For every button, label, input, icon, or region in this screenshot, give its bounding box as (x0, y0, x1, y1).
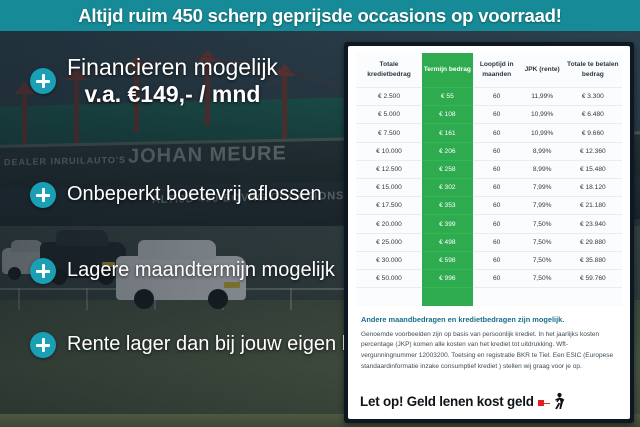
table-cell-1: € 161 (422, 124, 473, 142)
table-cell-4: € 29.880 (564, 233, 622, 251)
plus-icon (30, 258, 56, 284)
table-cell-1: € 399 (422, 215, 473, 233)
table-cell-3: 7,50% (521, 251, 564, 269)
rates-table-head: Totale kredietbedrag Termijn bedrag Loop… (356, 53, 622, 88)
table-row: € 2.500€ 556011,99%€ 3.300 (356, 88, 622, 106)
plus-icon (30, 68, 56, 94)
table-cell-4: € 15.480 (564, 160, 622, 178)
table-row: € 7.500€ 1616010,99%€ 9.660 (356, 124, 622, 142)
table-cell-3: 11,99% (521, 88, 564, 106)
table-cell-2: 60 (473, 106, 521, 124)
plus-icon (30, 182, 56, 208)
table-row-spacer (356, 288, 622, 307)
table-header-row: Totale kredietbedrag Termijn bedrag Loop… (356, 53, 622, 88)
table-cell-0: € 50.000 (356, 269, 422, 287)
table-cell-3: 8,99% (521, 160, 564, 178)
debt-walking-man-icon (538, 392, 562, 410)
table-cell-3: 8,99% (521, 142, 564, 160)
table-cell-2: 60 (473, 269, 521, 287)
table-cell-2: 60 (473, 124, 521, 142)
table-cell-spacer (422, 288, 473, 307)
feature-text: Rente lager dan bij jouw eigen bank (67, 333, 385, 357)
feature-list: Financieren mogelijk v.a. €149,- / mnd O… (0, 42, 348, 414)
footer-body: Genoemde voorbeelden zijn op basis van p… (361, 330, 617, 372)
table-cell-1: € 302 (422, 179, 473, 197)
table-row: € 5.000€ 1086010,99%€ 6.480 (356, 106, 622, 124)
table-cell-1: € 108 (422, 106, 473, 124)
credit-warning-text: Let op! Geld lenen kost geld (360, 394, 534, 409)
table-cell-2: 60 (473, 197, 521, 215)
table-cell-4: € 9.660 (564, 124, 622, 142)
table-cell-0: € 10.000 (356, 142, 422, 160)
column-header-termijnbedrag: Termijn bedrag (422, 53, 473, 88)
table-cell-0: € 12.500 (356, 160, 422, 178)
rates-card: Totale kredietbedrag Termijn bedrag Loop… (348, 46, 630, 419)
table-cell-3: 7,50% (521, 233, 564, 251)
credit-warning: Let op! Geld lenen kost geld (348, 392, 630, 419)
banner-title: Altijd ruim 450 scherp geprijsde occasio… (78, 5, 562, 27)
table-cell-2: 60 (473, 179, 521, 197)
table-cell-3: 7,50% (521, 215, 564, 233)
table-cell-0: € 20.000 (356, 215, 422, 233)
table-cell-spacer (564, 288, 622, 307)
table-cell-2: 60 (473, 88, 521, 106)
table-cell-1: € 598 (422, 251, 473, 269)
table-cell-4: € 6.480 (564, 106, 622, 124)
column-header-totaal: Totale te betalen bedrag (564, 53, 622, 88)
table-row: € 10.000€ 206608,99%€ 12.360 (356, 142, 622, 160)
table-row: € 15.000€ 302607,99%€ 18.120 (356, 179, 622, 197)
table-cell-spacer (356, 288, 422, 307)
table-cell-4: € 59.760 (564, 269, 622, 287)
table-cell-1: € 498 (422, 233, 473, 251)
table-cell-0: € 17.500 (356, 197, 422, 215)
feature-item-financieren: Financieren mogelijk v.a. €149,- / mnd (30, 54, 278, 108)
table-cell-4: € 3.300 (564, 88, 622, 106)
table-cell-0: € 30.000 (356, 251, 422, 269)
feature-text: Onbeperkt boetevrij aflossen (67, 183, 322, 207)
table-row: € 20.000€ 399607,50%€ 23.940 (356, 215, 622, 233)
table-cell-3: 7,99% (521, 179, 564, 197)
table-cell-1: € 353 (422, 197, 473, 215)
table-cell-4: € 18.120 (564, 179, 622, 197)
feature-item-rente: Rente lager dan bij jouw eigen bank (30, 332, 385, 358)
table-row: € 25.000€ 498607,50%€ 29.880 (356, 233, 622, 251)
table-cell-4: € 21.180 (564, 197, 622, 215)
table-row: € 30.000€ 598607,50%€ 35.880 (356, 251, 622, 269)
footer-heading: Andere maandbedragen en kredietbedragen … (361, 315, 617, 325)
table-cell-2: 60 (473, 215, 521, 233)
table-cell-spacer (473, 288, 521, 307)
table-cell-0: € 7.500 (356, 124, 422, 142)
table-cell-1: € 996 (422, 269, 473, 287)
table-row: € 50.000€ 996607,50%€ 59.760 (356, 269, 622, 287)
promo-banner-canvas: DEALER INRUILAUTO'S JOHAN MEURE ALTIJD 4… (0, 0, 640, 427)
plus-icon (30, 332, 56, 358)
table-cell-4: € 35.880 (564, 251, 622, 269)
rates-footer-note: Andere maandbedragen en kredietbedragen … (348, 306, 630, 372)
table-cell-2: 60 (473, 160, 521, 178)
table-cell-2: 60 (473, 251, 521, 269)
table-cell-0: € 2.500 (356, 88, 422, 106)
table-cell-2: 60 (473, 142, 521, 160)
table-cell-4: € 12.360 (564, 142, 622, 160)
feature-item-boetevrij: Onbeperkt boetevrij aflossen (30, 182, 322, 208)
table-cell-3: 7,99% (521, 197, 564, 215)
table-cell-3: 10,99% (521, 124, 564, 142)
rates-table: Totale kredietbedrag Termijn bedrag Loop… (356, 53, 622, 306)
column-header-looptijd: Looptijd in maanden (473, 53, 521, 88)
top-banner: Altijd ruim 450 scherp geprijsde occasio… (0, 0, 640, 31)
feature-item-maandtermijn: Lagere maandtermijn mogelijk (30, 258, 335, 284)
table-cell-0: € 25.000 (356, 233, 422, 251)
feature-text: Financieren mogelijk v.a. €149,- / mnd (67, 54, 278, 108)
feature-line-1: Financieren mogelijk (67, 54, 278, 81)
rates-table-body: € 2.500€ 556011,99%€ 3.300€ 5.000€ 10860… (356, 88, 622, 307)
table-cell-1: € 258 (422, 160, 473, 178)
feature-text: Lagere maandtermijn mogelijk (67, 259, 335, 283)
table-cell-4: € 23.940 (564, 215, 622, 233)
table-cell-3: 7,50% (521, 269, 564, 287)
feature-line-2: v.a. €149,- / mnd (67, 81, 278, 108)
table-cell-2: 60 (473, 233, 521, 251)
table-row: € 12.500€ 258608,99%€ 15.480 (356, 160, 622, 178)
column-header-kredietbedrag: Totale kredietbedrag (356, 53, 422, 88)
column-header-jkp: JPK (rente) (521, 53, 564, 88)
table-cell-0: € 15.000 (356, 179, 422, 197)
table-cell-3: 10,99% (521, 106, 564, 124)
table-cell-spacer (521, 288, 564, 307)
table-cell-1: € 55 (422, 88, 473, 106)
table-cell-1: € 206 (422, 142, 473, 160)
table-cell-0: € 5.000 (356, 106, 422, 124)
rates-table-wrapper: Totale kredietbedrag Termijn bedrag Loop… (348, 46, 630, 306)
table-row: € 17.500€ 353607,99%€ 21.180 (356, 197, 622, 215)
